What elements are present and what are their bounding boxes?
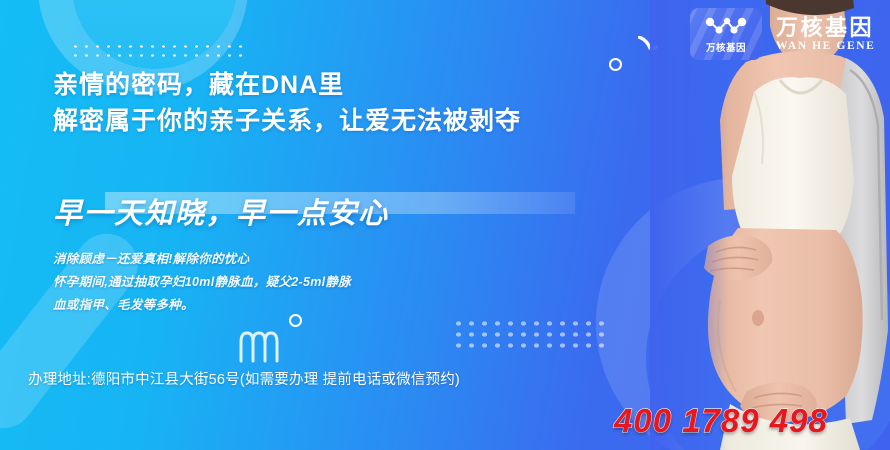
headline-line-2: 解密属于你的亲子关系，让爱无法被剥夺	[53, 104, 521, 140]
arc-circle-inner-decoration	[72, 0, 237, 69]
body-line-2: 怀孕期间,通过抽取孕妇10ml静脉血，疑父2-5ml静脉	[53, 271, 351, 294]
wave-line-icon	[238, 330, 290, 364]
molecule-icon	[703, 15, 749, 39]
body-line-1: 消除顾虑－还爱真相!解除你的忧心	[53, 248, 351, 271]
logo-name-en: WAN HE GENE	[776, 40, 875, 52]
address-line: 办理地址:德阳市中江县大街56号(如需要办理 提前电话或微信预约)	[28, 368, 460, 389]
phone-number[interactable]: 400 1789 498	[614, 402, 828, 440]
pregnant-woman-photo	[650, 0, 890, 450]
headline-line-1: 亲情的密码，藏在DNA里	[53, 68, 521, 104]
logo-wordmark: 万核基因 WAN HE GENE	[776, 16, 875, 51]
subheadline: 早一天知晓，早一点安心	[53, 190, 389, 232]
promo-banner: 万核基因 万核基因 WAN HE GENE 亲情的密码，藏在DNA里 解密属于你…	[0, 0, 890, 450]
logo-name-cn: 万核基因	[776, 16, 875, 39]
body-copy: 消除顾虑－还爱真相!解除你的忧心 怀孕期间,通过抽取孕妇10ml静脉血，疑父2-…	[53, 248, 351, 317]
headline: 亲情的密码，藏在DNA里 解密属于你的亲子关系，让爱无法被剥夺	[53, 68, 521, 139]
logo-badge-label: 万核基因	[706, 40, 746, 54]
round-dot-grid	[452, 318, 612, 348]
brand-logo[interactable]: 万核基因 万核基因 WAN HE GENE	[690, 8, 875, 60]
square-dot-grid	[70, 42, 242, 60]
ring-circle-icon-top	[609, 58, 622, 71]
logo-badge: 万核基因	[690, 8, 762, 60]
body-line-3: 血或指甲、毛发等多种。	[53, 294, 351, 317]
